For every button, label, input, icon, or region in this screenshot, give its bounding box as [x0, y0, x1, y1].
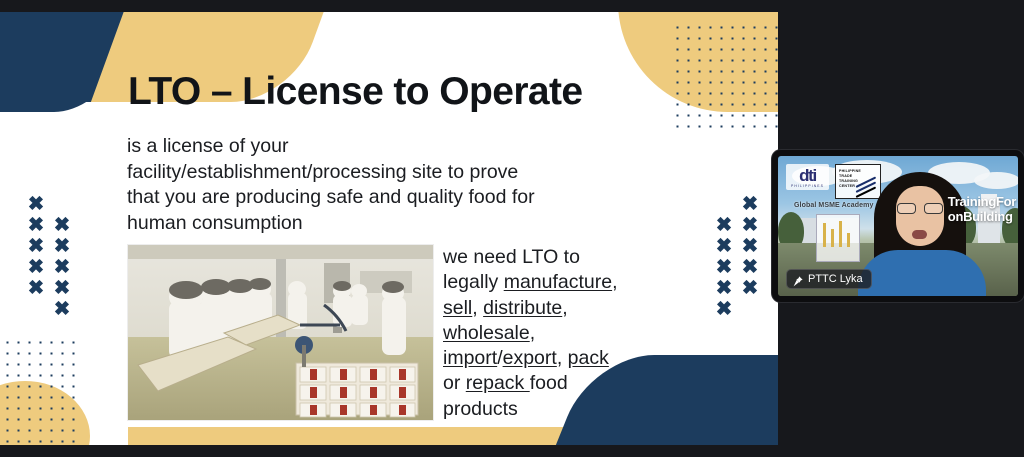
text-run: , [557, 347, 568, 369]
text-run: , [562, 297, 567, 319]
presentation-slide: LTO – License to Operate is a license of… [0, 12, 778, 445]
video-feed: dti PHILIPPINES PHILIPPINETRADETRAININGC… [778, 156, 1018, 296]
participant-name-badge: PTTC Lyka [786, 269, 872, 289]
overlay-line-1: TrainingFor [948, 194, 1016, 209]
text-run-underlined: distribute [483, 297, 562, 319]
academy-label: Global MSME Academy [794, 202, 873, 209]
participant-shirt [858, 250, 986, 296]
body-left-line: is a license of your [127, 134, 627, 160]
video-participant-tile[interactable]: dti PHILIPPINES PHILIPPINETRADETRAININGC… [772, 150, 1024, 302]
text-run-underlined: wholesale [443, 322, 530, 344]
pin-icon [793, 274, 803, 285]
factory-photo-illustration [128, 245, 433, 420]
text-run-underlined: export [503, 347, 557, 369]
virtual-background-logos: dti PHILIPPINES PHILIPPINETRADETRAININGC… [786, 164, 881, 199]
overlay-line-2: onBuilding [948, 209, 1016, 224]
text-run-underlined: manufacture [504, 271, 612, 293]
decor-cross-cluster-left [27, 195, 70, 321]
text-run: , [472, 297, 483, 319]
slide-body-left: is a license of your facility/establishm… [127, 134, 627, 236]
decor-dot-grid-top-right [670, 20, 778, 130]
slide-title: LTO – License to Operate [128, 70, 582, 114]
slide-body-right: we need LTO to legally manufacture, sell… [443, 245, 743, 422]
screen-root: LTO – License to Operate is a license of… [0, 0, 1024, 457]
body-right-line: import/export, pack [443, 346, 743, 371]
body-right-line: legally manufacture, [443, 270, 743, 295]
text-run: food [530, 372, 568, 394]
text-run-underlined: import [443, 347, 497, 369]
body-right-line: or repack food [443, 371, 743, 396]
video-overlay-text: TrainingFor onBuilding [948, 194, 1016, 224]
text-run: legally [443, 271, 504, 293]
text-run-underlined: repack [466, 372, 530, 394]
poster-graphic [816, 214, 860, 262]
body-left-line: that you are producing safe and quality … [127, 185, 627, 211]
participant-mouth [912, 230, 927, 239]
participant-name-label: PTTC Lyka [808, 273, 863, 285]
body-right-line: sell, distribute, [443, 296, 743, 321]
cloud-shape [974, 172, 1018, 189]
dti-logo-subtitle: PHILIPPINES [791, 185, 824, 188]
text-run: , [530, 322, 535, 344]
text-run-underlined: pack [568, 347, 609, 369]
text-run: products [443, 398, 518, 420]
body-right-line: we need LTO to [443, 245, 743, 270]
text-run: or [443, 372, 466, 394]
text-run: , [612, 271, 617, 293]
text-run: we need LTO to [443, 246, 580, 268]
text-run-underlined: sell [443, 297, 472, 319]
dti-logo: dti PHILIPPINES [786, 164, 829, 190]
pin-icon-svg [793, 276, 803, 287]
pttc-logo: PHILIPPINETRADETRAININGCENTER [835, 164, 881, 199]
body-left-line: facility/establishment/processing site t… [127, 160, 627, 186]
dti-logo-wordmark: dti [791, 167, 824, 184]
pttc-logo-lines [856, 170, 878, 194]
factory-photo [128, 245, 433, 420]
body-left-line: human consumption [127, 211, 627, 237]
body-right-line: wholesale, [443, 321, 743, 346]
decor-dot-grid-bottom-left [0, 335, 80, 445]
glasses-icon [897, 203, 943, 212]
body-right-line: products [443, 397, 743, 422]
